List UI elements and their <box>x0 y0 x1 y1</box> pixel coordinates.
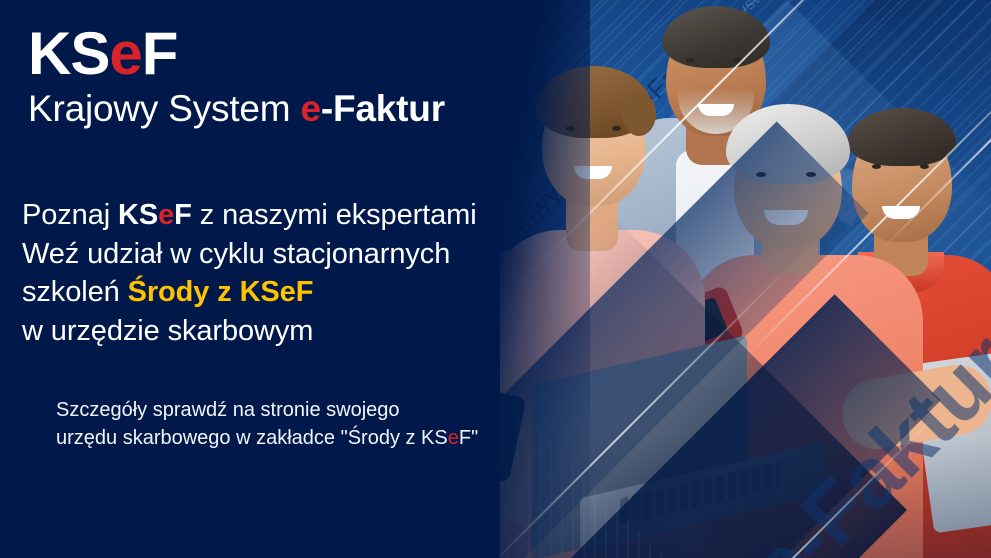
headline-brand-ks: KS <box>118 199 158 231</box>
person-man-blazer-hair <box>662 6 770 68</box>
logo-subtitle-post: -Faktur <box>321 88 445 129</box>
logo-acronym-ks: KS <box>28 20 109 87</box>
headline-line-1-post: z naszymi ekspertami <box>192 199 477 231</box>
headline-line-4: w urzędzie skarbowym <box>22 312 492 351</box>
subnote-line-2: urzędu skarbowego w zakładce "Środy z KS… <box>56 424 486 452</box>
headline-brand-f: F <box>174 199 192 231</box>
person-woman-salmon-eye-left <box>756 172 766 177</box>
person-man-redpolo-hair <box>848 108 956 166</box>
subnote-brand-e: e <box>448 427 459 449</box>
headline-highlight-srody-z-ksef: Środy z KSeF <box>128 276 314 308</box>
person-woman-salmon-eye-right <box>806 172 816 177</box>
headline-line-1: Poznaj KSeF z naszymi ekspertami <box>22 196 492 235</box>
ksef-logo: KSeF Krajowy System e-Faktur <box>28 24 445 129</box>
subnote-line-2-post: F" <box>459 427 478 449</box>
logo-acronym-f: F <box>142 20 178 87</box>
headline-brand-e: e <box>158 199 174 231</box>
ksef-promo-banner: [Imię nazwisko lub nazwa] Adres [Adres] … <box>0 0 991 558</box>
logo-subtitle: Krajowy System e-Faktur <box>28 90 445 129</box>
person-man-blazer-eye-left <box>686 58 695 63</box>
person-woman-salmon-hair <box>726 104 850 184</box>
headline-line-3-pre: szkoleń <box>22 276 128 308</box>
subnote-block: Szczegóły sprawdź na stronie swojego urz… <box>56 396 486 453</box>
person-man-redpolo-eye-right <box>920 164 929 169</box>
logo-acronym-e: e <box>109 20 141 87</box>
subnote-line-2-pre: urzędu skarbowego w zakładce "Środy z KS <box>56 427 448 449</box>
subnote-line-1: Szczegóły sprawdź na stronie swojego <box>56 396 486 424</box>
person-man-redpolo-eye-left <box>872 164 881 169</box>
headline-line-1-pre: Poznaj <box>22 199 118 231</box>
person-woman-pink-hair-bun <box>622 92 656 136</box>
headline-block: Poznaj KSeF z naszymi ekspertami Weź udz… <box>22 196 492 350</box>
logo-subtitle-e: e <box>301 88 321 129</box>
content-layer: KSeF Krajowy System e-Faktur Poznaj KSeF… <box>0 0 500 558</box>
logo-acronym: KSeF <box>28 24 445 84</box>
person-woman-pink-eye-right <box>612 126 621 131</box>
headline-line-3: szkoleń Środy z KSeF <box>22 273 492 312</box>
logo-subtitle-pre: Krajowy System <box>28 88 301 129</box>
headline-line-2: Weź udział w cyklu stacjonarnych <box>22 235 492 274</box>
